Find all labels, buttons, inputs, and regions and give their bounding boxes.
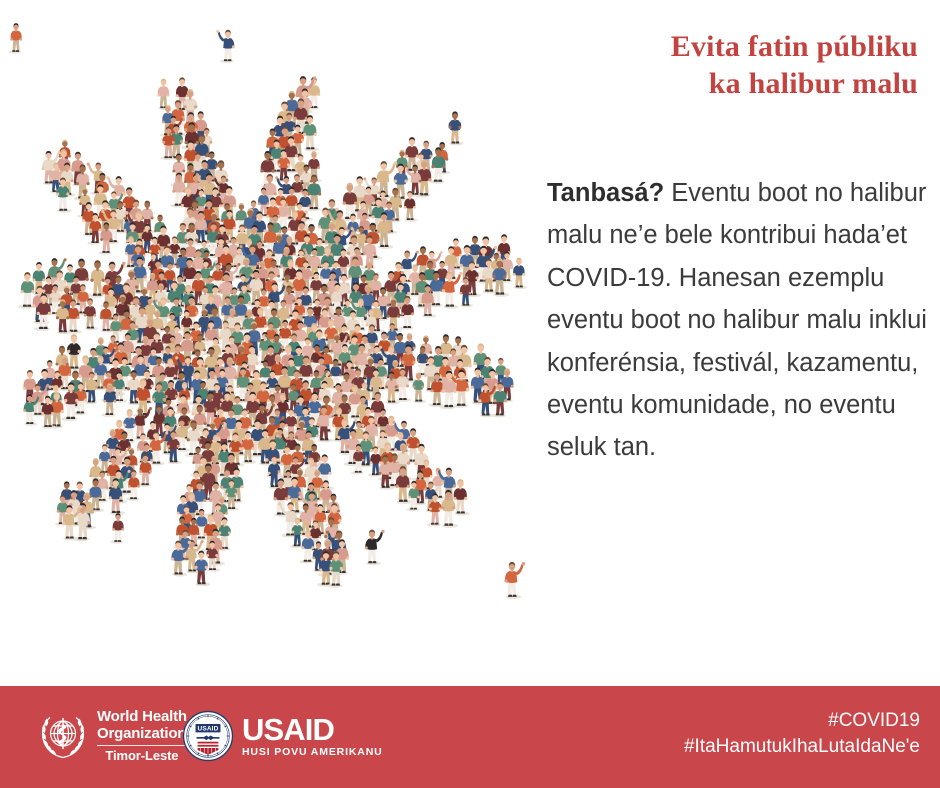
headline: Evita fatin públiku ka halibur malu <box>540 28 918 102</box>
body-lead-question: Tanbasá? <box>547 179 664 207</box>
who-country-label: Timor-Leste <box>97 749 187 763</box>
usaid-logo: USAID USAID HUSI POVU AMERIKANU <box>182 710 383 762</box>
hashtag-block: #COVID19 #ItaHamutukIhaLutaIdaNe'e <box>684 708 920 760</box>
crowd-person <box>504 562 525 599</box>
crowd-person <box>303 115 319 151</box>
body-rest-text: Eventu boot no halibur malu ne’e bele ko… <box>547 179 927 461</box>
crowd-person <box>413 372 427 403</box>
usaid-name: USAID <box>242 715 383 745</box>
crowd-person <box>453 479 469 515</box>
usaid-wordmark: USAID HUSI POVU AMERIKANU <box>242 715 383 758</box>
who-name-line2: Organization <box>97 726 187 743</box>
crowd-person <box>88 260 105 298</box>
crowd-virus-figure <box>0 0 530 670</box>
hashtag-campaign: #ItaHamutukIhaLutaIdaNe'e <box>684 734 920 760</box>
body-paragraph: Tanbasá? Eventu boot no halibur malu ne’… <box>547 172 937 469</box>
crowd-person <box>18 272 34 309</box>
crowd-person <box>513 258 527 289</box>
crowd-person <box>110 513 124 543</box>
crowd-person <box>67 334 83 371</box>
text-column: Evita fatin públiku ka halibur malu Tanb… <box>540 0 940 670</box>
crowd-person <box>365 530 385 566</box>
usaid-tagline: HUSI POVU AMERIKANU <box>242 746 383 758</box>
usaid-seal-icon: USAID <box>182 710 234 762</box>
crowd-person <box>216 30 235 63</box>
hashtag-covid19: #COVID19 <box>684 708 920 734</box>
crowd-person <box>157 79 171 110</box>
crowd-person <box>449 111 464 145</box>
svg-text:USAID: USAID <box>197 726 218 733</box>
who-logo: World Health Organization Timor-Leste <box>38 709 187 763</box>
crowd-illustration <box>0 0 530 670</box>
poster-canvas: Evita fatin públiku ka halibur malu Tanb… <box>0 0 940 788</box>
who-divider <box>97 745 187 746</box>
who-wordmark: World Health Organization Timor-Leste <box>97 709 187 763</box>
crowd-figures <box>8 23 527 599</box>
who-name-line1: World Health <box>97 709 187 726</box>
who-emblem-icon <box>38 711 88 761</box>
crowd-person <box>8 23 22 54</box>
